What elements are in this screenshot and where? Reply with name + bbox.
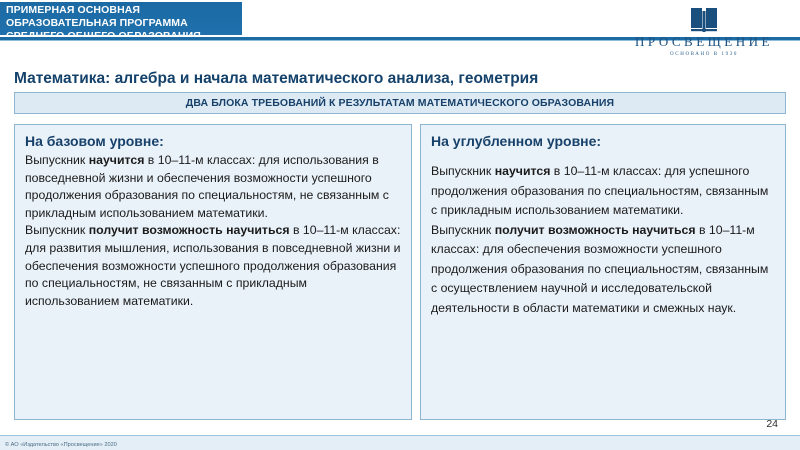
footer-band — [0, 436, 800, 450]
requirements-banner: ДВА БЛОКА ТРЕБОВАНИЙ К РЕЗУЛЬТАТАМ МАТЕМ… — [14, 92, 786, 114]
panel-advanced-paragraph-2: Выпускник получит возможность научиться … — [431, 221, 775, 319]
advanced-p2-bold: получит возможность научиться — [495, 223, 696, 237]
logo-name: ПРОСВЕЩЕНИЕ — [624, 34, 784, 50]
slide-header: ПРИМЕРНАЯ ОСНОВНАЯ ОБРАЗОВАТЕЛЬНАЯ ПРОГР… — [0, 0, 800, 50]
panel-basic-level: На базовом уровне: Выпускник научится в … — [14, 124, 412, 420]
logo-subtitle: ОСНОВАНО В 1930 — [624, 52, 784, 57]
copyright-text: © АО «Издательство «Просвещение» 2020 — [5, 442, 117, 448]
panel-basic-paragraph-2: Выпускник получит возможность научиться … — [25, 222, 401, 310]
panel-advanced-heading: На углубленном уровне: — [431, 133, 775, 149]
requirements-banner-text: ДВА БЛОКА ТРЕБОВАНИЙ К РЕЗУЛЬТАТАМ МАТЕМ… — [186, 97, 614, 109]
panel-advanced-paragraph-1: Выпускник научится в 10–11-м классах: дл… — [431, 162, 775, 221]
prosveshchenie-book-icon — [691, 8, 717, 32]
panel-basic-heading: На базовом уровне: — [25, 133, 401, 149]
basic-p1-pre: Выпускник — [25, 153, 89, 167]
advanced-p1-bold: научится — [495, 164, 551, 178]
page-number: 24 — [766, 418, 778, 430]
panels-container: На базовом уровне: Выпускник научится в … — [14, 124, 786, 420]
panel-basic-paragraph-1: Выпускник научится в 10–11-м классах: дл… — [25, 152, 401, 222]
basic-p2-bold: получит возможность научиться — [89, 223, 290, 237]
panel-advanced-spacer — [431, 152, 775, 162]
header-title-line1: ПРИМЕРНАЯ ОСНОВНАЯ ОБРАЗОВАТЕЛЬНАЯ ПРОГР… — [6, 4, 188, 29]
advanced-p2-pre: Выпускник — [431, 223, 495, 237]
basic-p2-pre: Выпускник — [25, 223, 89, 237]
publisher-logo: ПРОСВЕЩЕНИЕ ОСНОВАНО В 1930 — [624, 8, 784, 57]
basic-p1-bold: научится — [89, 153, 145, 167]
panel-advanced-level: На углубленном уровне: Выпускник научитс… — [420, 124, 786, 420]
page-title: Математика: алгебра и начала математичес… — [14, 70, 538, 88]
advanced-p1-pre: Выпускник — [431, 164, 495, 178]
